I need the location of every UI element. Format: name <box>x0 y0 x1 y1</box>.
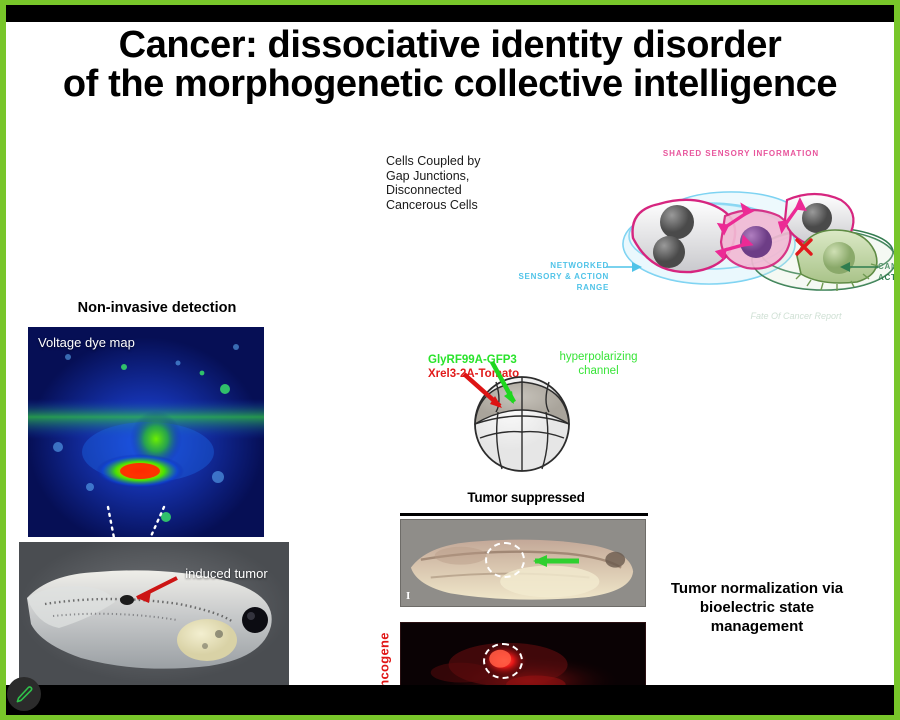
slide-canvas: Cancer: dissociative identity disorder o… <box>6 22 894 685</box>
letterbox-top <box>6 5 894 22</box>
title-line-2: of the morphogenetic collective intellig… <box>6 65 894 104</box>
voltage-dye-map-image: Voltage dye map <box>28 327 264 537</box>
cancer-arrow <box>838 258 882 278</box>
tumor-suppressed-label: Tumor suppressed <box>406 490 646 505</box>
shared-sensory-information-label: SHARED SENSORY INFORMATION <box>631 149 851 158</box>
brightfield-tadpole-panel: I <box>400 519 646 607</box>
roi-circle <box>483 643 523 679</box>
pencil-icon <box>15 685 34 704</box>
networked-sensory-action-range-label: NETWORKED SENSORY & ACTION RANGE <box>514 261 609 293</box>
embryo-illustration <box>406 334 646 494</box>
embryo-diagram: GlyRF99A-GFP3 Xrel3-2A-Tomato hyperpolar… <box>406 334 646 514</box>
page-title: Cancer: dissociative identity disorder o… <box>6 26 894 104</box>
title-line-1: Cancer: dissociative identity disorder <box>6 26 894 65</box>
tadpole-photo: induced tumor <box>19 542 289 685</box>
suppression-arrow <box>519 554 587 570</box>
networked-arrow <box>606 258 646 278</box>
induced-tumor-label: induced tumor <box>179 566 274 581</box>
panel-label-1: I <box>406 590 410 602</box>
slide-frame: Cancer: dissociative identity disorder o… <box>0 0 900 720</box>
edit-button[interactable] <box>7 677 41 711</box>
divider-rule <box>400 513 648 516</box>
induced-tumor-arrow <box>19 542 289 685</box>
tumor-normalization-text: Tumor normalization via bioelectric stat… <box>662 580 852 636</box>
fluorescence-tadpole-panel: II <box>400 622 646 685</box>
gap-junction-caption: Cells Coupled by Gap Junctions, Disconne… <box>386 154 506 212</box>
cell-coupling-diagram: Cells Coupled by Gap Junctions, Disconne… <box>386 146 894 316</box>
cell-cluster-illustration <box>601 164 894 314</box>
oncogene-label: oncogene <box>376 622 392 685</box>
letterbox-bottom <box>6 685 894 715</box>
voltage-dye-map-label: Voltage dye map <box>38 335 135 350</box>
non-invasive-detection-heading: Non-invasive detection <box>28 300 286 316</box>
